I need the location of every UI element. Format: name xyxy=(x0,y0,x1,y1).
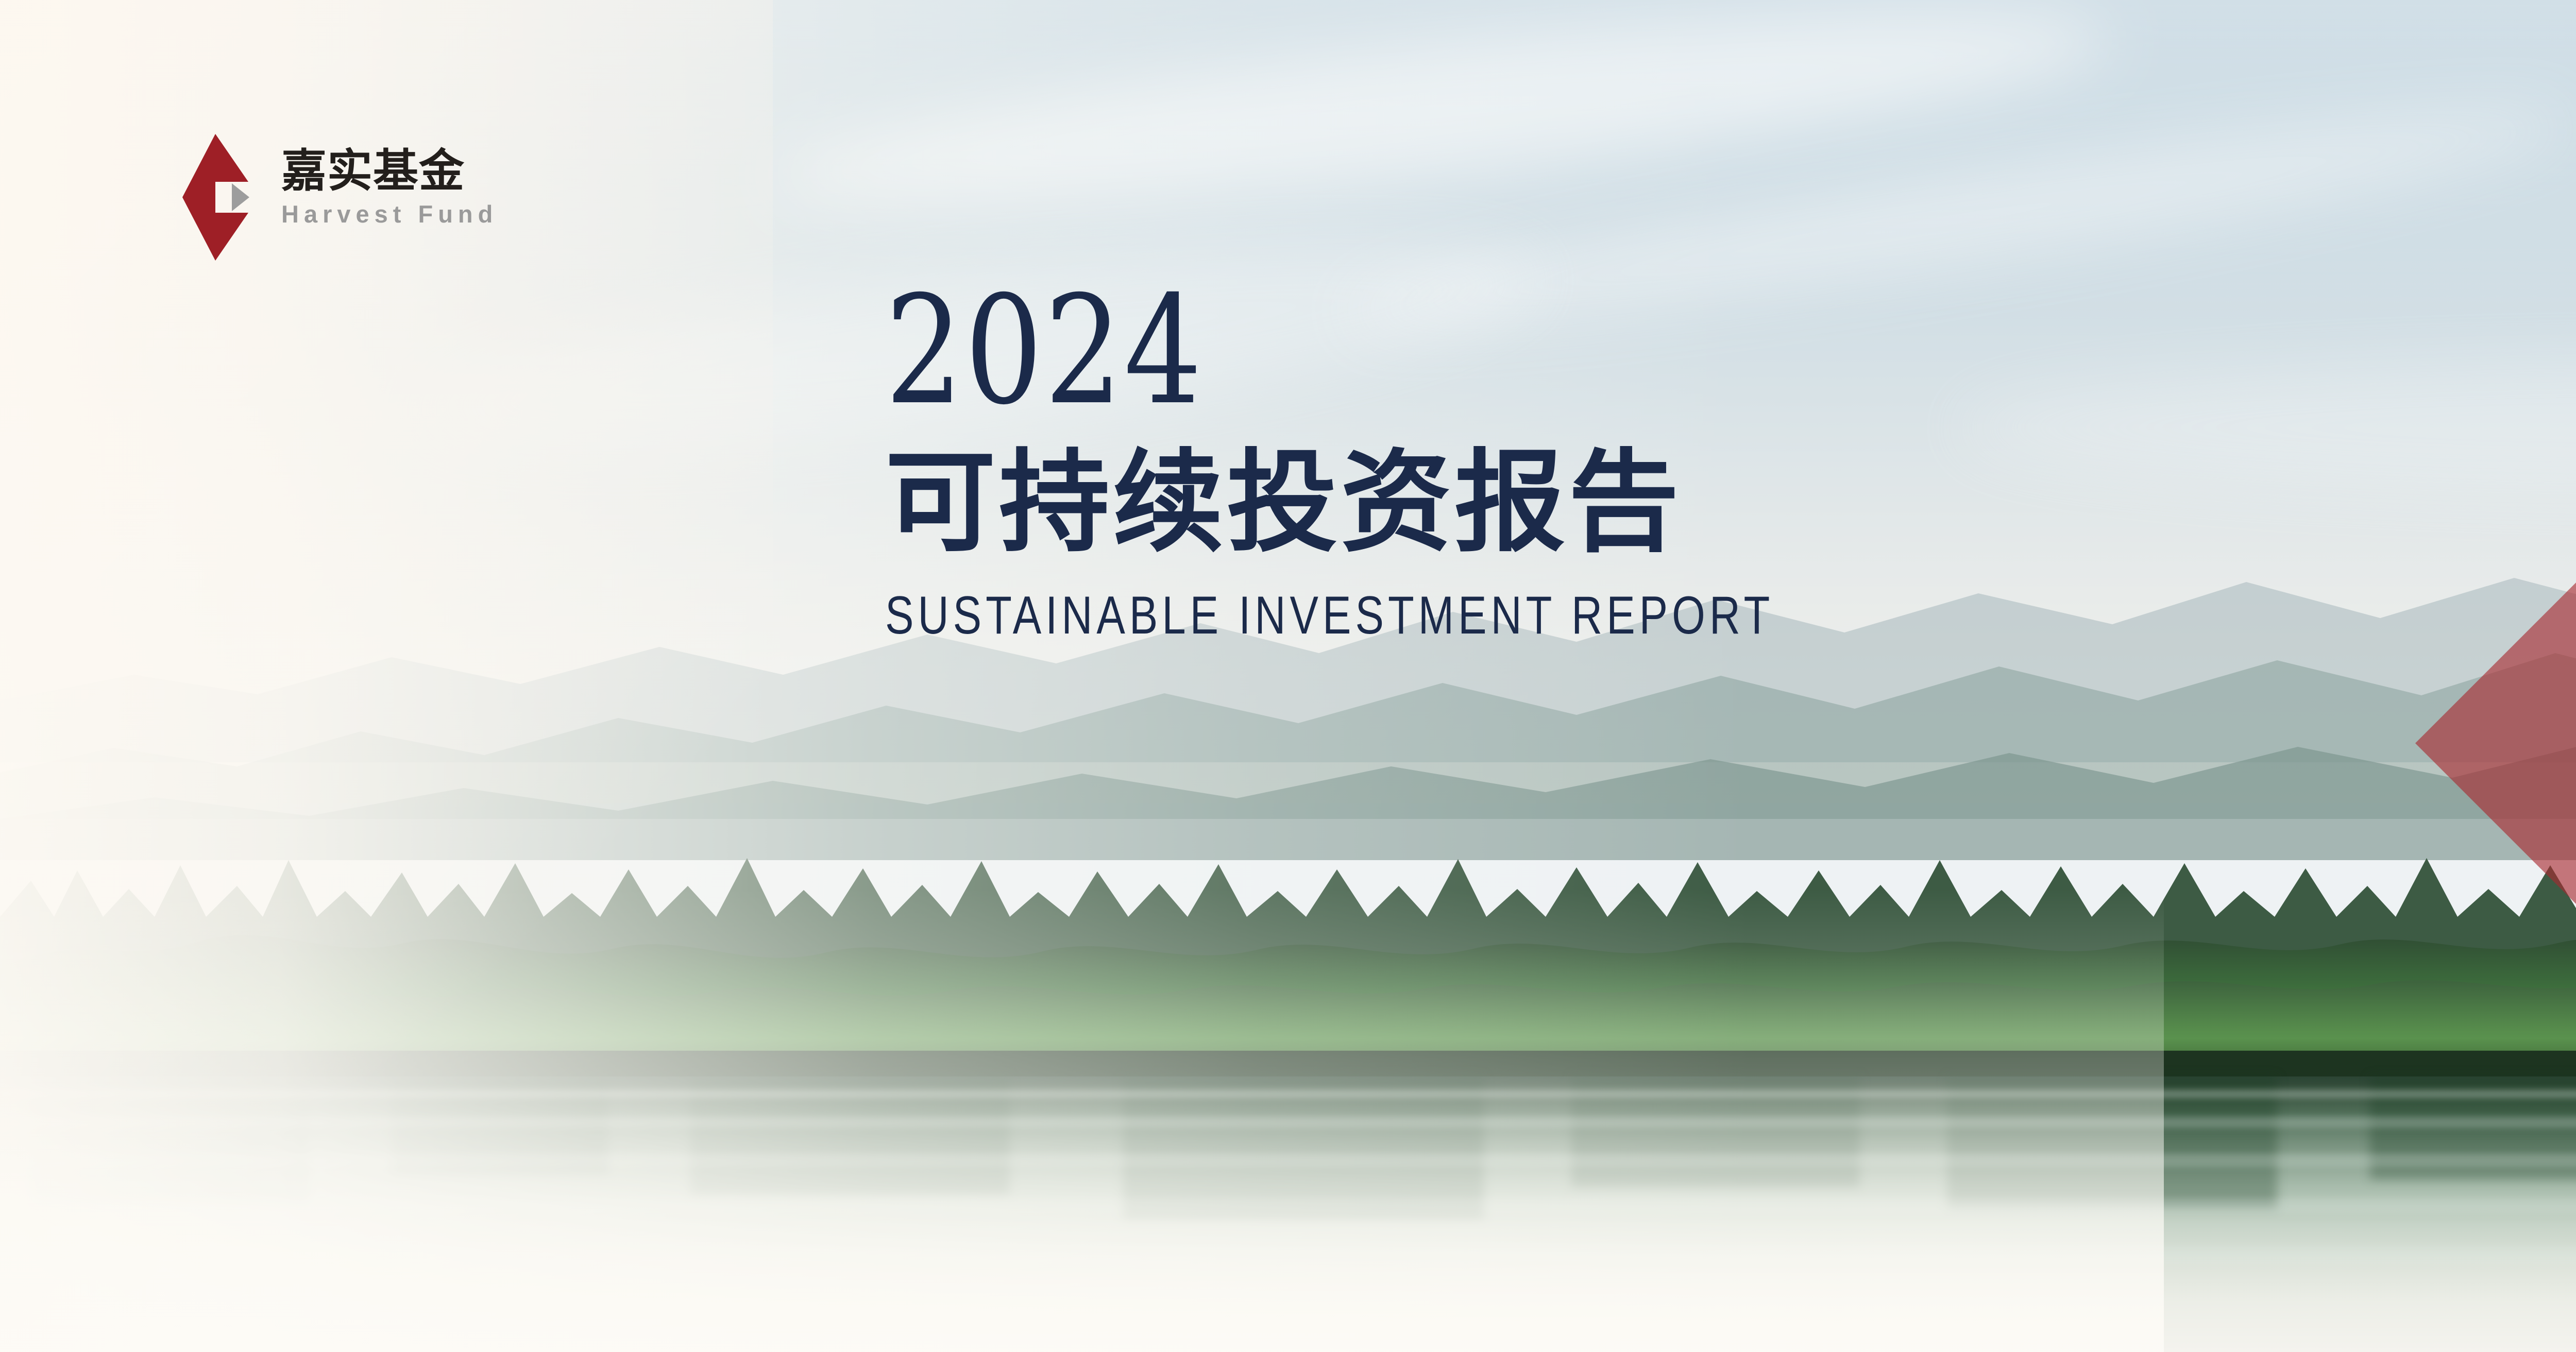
cover-year: 2024 xyxy=(885,278,1796,424)
cover-title-en: SUSTAINABLE INVESTMENT REPORT xyxy=(885,589,1774,642)
brand-name-en: Harvest Fund xyxy=(281,201,498,228)
report-cover-banner: 嘉实基金 Harvest Fund 2024 可持续投资报告 SUSTAINAB… xyxy=(0,0,2576,1352)
brand-name-cn: 嘉实基金 xyxy=(281,147,498,195)
cover-title-block: 2024 可持续投资报告 SUSTAINABLE INVESTMENT REPO… xyxy=(885,278,1996,642)
cover-title-cn: 可持续投资报告 xyxy=(885,446,1996,559)
brand-logo-text: 嘉实基金 Harvest Fund xyxy=(281,133,498,228)
harvest-fund-diamond-logo-icon xyxy=(181,133,249,262)
brand-logo[interactable]: 嘉实基金 Harvest Fund xyxy=(181,133,498,262)
harvest-fund-watermark xyxy=(2370,216,2576,1123)
